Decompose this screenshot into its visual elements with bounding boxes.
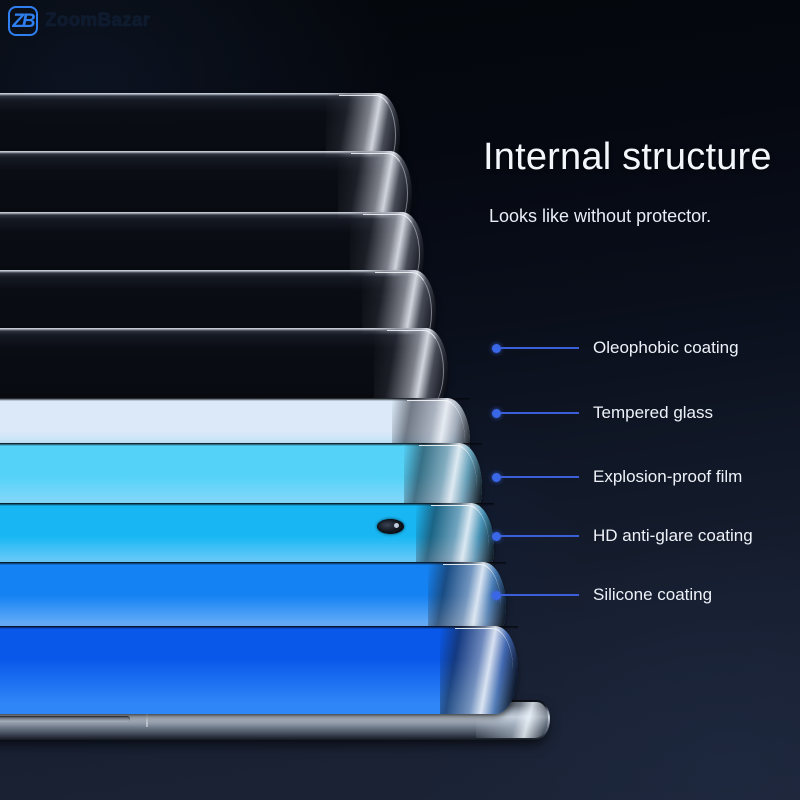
layer-seam bbox=[0, 562, 506, 565]
callout-label: Silicone coating bbox=[593, 585, 712, 605]
callout-leader-line bbox=[501, 412, 579, 414]
callout-dot-icon bbox=[492, 344, 501, 353]
callout-item[interactable]: Oleophobic coating bbox=[492, 338, 739, 358]
callout-item[interactable]: Tempered glass bbox=[492, 403, 713, 423]
callout-leader-line bbox=[501, 347, 579, 349]
layer-seam bbox=[0, 626, 518, 629]
layer-edge-highlight bbox=[440, 626, 518, 714]
punch-hole-camera-icon bbox=[377, 519, 404, 534]
callout-dot-icon bbox=[492, 532, 501, 541]
brand-watermark: ZB ZoomBazar bbox=[8, 6, 150, 36]
layer-seam bbox=[0, 503, 494, 506]
zoombazar-logo-icon: ZB bbox=[8, 6, 38, 36]
callout-leader-line bbox=[501, 535, 579, 537]
page-title: Internal structure bbox=[483, 136, 772, 179]
layer-stack-illustration bbox=[0, 0, 560, 800]
product-infographic: ZB ZoomBazar Internal structure Looks li… bbox=[0, 0, 800, 800]
callout-dot-icon bbox=[492, 409, 501, 418]
callout-item[interactable]: Explosion-proof film bbox=[492, 467, 742, 487]
layer-edge-gloss bbox=[455, 628, 513, 712]
callout-item[interactable]: HD anti-glare coating bbox=[492, 526, 753, 546]
display-layer-5 bbox=[0, 626, 518, 714]
speaker-slot bbox=[0, 716, 130, 722]
page-subtitle: Looks like without protector. bbox=[489, 206, 711, 227]
layer-seam bbox=[0, 398, 470, 401]
callout-item[interactable]: Silicone coating bbox=[492, 585, 712, 605]
callout-label: Tempered glass bbox=[593, 403, 713, 423]
logo-monogram: ZB bbox=[12, 12, 33, 31]
callout-leader-line bbox=[501, 476, 579, 478]
callout-label: Explosion-proof film bbox=[593, 467, 742, 487]
callout-label: HD anti-glare coating bbox=[593, 526, 753, 546]
callout-label: Oleophobic coating bbox=[593, 338, 739, 358]
layer-seam bbox=[0, 443, 482, 446]
brand-wordmark: ZoomBazar bbox=[45, 10, 150, 32]
callout-dot-icon bbox=[492, 473, 501, 482]
callout-leader-line bbox=[501, 594, 579, 596]
callout-dot-icon bbox=[492, 591, 501, 600]
